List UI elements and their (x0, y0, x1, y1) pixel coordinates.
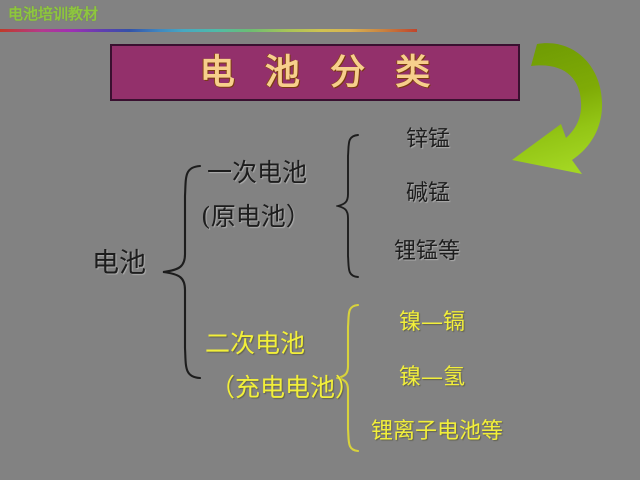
brace-root (160, 162, 204, 382)
leaf-nickel-cadmium: 镍—镉 (399, 311, 465, 335)
rainbow-divider (0, 29, 417, 32)
leaf-alkaline-manganese: 碱锰 (406, 182, 450, 206)
leaf-lithium-ion: 锂离子电池等 (371, 420, 503, 444)
title-banner: 电 池 分 类 (110, 44, 520, 101)
leaf-lithium-manganese: 锂锰等 (394, 240, 460, 264)
page-title: 电 池 分 类 (191, 55, 440, 90)
branch-primary-label-line1: 一次电池 (207, 159, 307, 187)
curved-down-left-arrow-icon (506, 32, 640, 178)
slide-canvas: 电池培训教材 电 池 分 类 电池 一次电池 (原电 (0, 0, 640, 480)
tree-root-label: 电池 (92, 249, 146, 279)
branch-primary-label-line2: (原电池） (201, 203, 311, 231)
branch-secondary-label-line2: （充电电池） (210, 374, 360, 402)
brace-primary-leaves (336, 132, 362, 280)
leaf-zinc-manganese: 锌锰 (406, 128, 450, 152)
leaf-nickel-hydrogen: 镍—氢 (399, 366, 465, 390)
header-label: 电池培训教材 (8, 4, 98, 24)
branch-secondary-label-line1: 二次电池 (205, 330, 305, 358)
